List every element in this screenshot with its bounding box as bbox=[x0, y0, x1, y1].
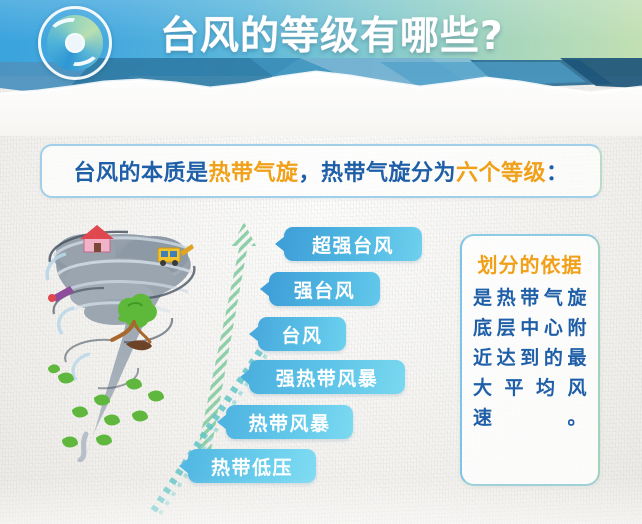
statement-text: 台风的本质是热带气旋，热带气旋分为六个等级： bbox=[73, 155, 568, 187]
level-badge-tropical-storm[interactable]: 热带风暴 bbox=[226, 405, 353, 439]
badge-tail-icon bbox=[217, 414, 227, 430]
badge-tail-icon bbox=[260, 281, 270, 297]
logo-ring bbox=[38, 6, 112, 80]
level-badge-super-typhoon[interactable]: 超强台风 bbox=[284, 227, 422, 261]
level-badge-severe-tropical-storm[interactable]: 强热带风暴 bbox=[249, 360, 405, 394]
statement-part-2: ，热带气旋分为 bbox=[298, 161, 456, 186]
house-icon bbox=[80, 225, 114, 252]
level-badge-tropical-depression[interactable]: 热带低压 bbox=[188, 449, 316, 483]
typhoon-spiral-icon bbox=[38, 6, 112, 80]
criteria-panel-body: 是热带气旋底层中心附近达到的最大平均风速。 bbox=[473, 283, 587, 433]
badge-tail-icon bbox=[240, 369, 250, 385]
badge-tail-icon bbox=[275, 236, 285, 252]
statement-highlight-1: 热带气旋 bbox=[208, 161, 298, 186]
level-badge-label: 强台风 bbox=[280, 276, 370, 303]
bottom-fade bbox=[0, 478, 642, 524]
page-title: 台风的等级有哪些? bbox=[160, 7, 504, 67]
badge-tail-icon bbox=[179, 458, 189, 474]
level-badge-label: 台风 bbox=[267, 321, 336, 348]
level-badge-label: 超强台风 bbox=[298, 231, 408, 258]
level-badge-label: 强热带风暴 bbox=[262, 364, 393, 391]
badge-tail-icon bbox=[249, 326, 259, 342]
statement-part-3: ： bbox=[546, 161, 569, 186]
infographic-page: 台风的等级有哪些? 台风的本质是热带气旋，热带气旋分为六个等级： bbox=[0, 0, 642, 524]
statement-part-1: 台风的本质是 bbox=[73, 161, 208, 186]
level-badge-label: 热带低压 bbox=[197, 453, 307, 480]
level-badge-label: 热带风暴 bbox=[234, 409, 344, 436]
level-badge-typhoon[interactable]: 台风 bbox=[258, 317, 346, 351]
criteria-panel: 划分的依据 是热带气旋底层中心附近达到的最大平均风速。 bbox=[460, 234, 600, 486]
statement-box: 台风的本质是热带气旋，热带气旋分为六个等级： bbox=[40, 144, 602, 198]
level-badge-strong-typhoon[interactable]: 强台风 bbox=[269, 272, 380, 306]
statement-highlight-2: 六个等级 bbox=[456, 161, 546, 186]
criteria-panel-heading: 划分的依据 bbox=[473, 252, 587, 278]
